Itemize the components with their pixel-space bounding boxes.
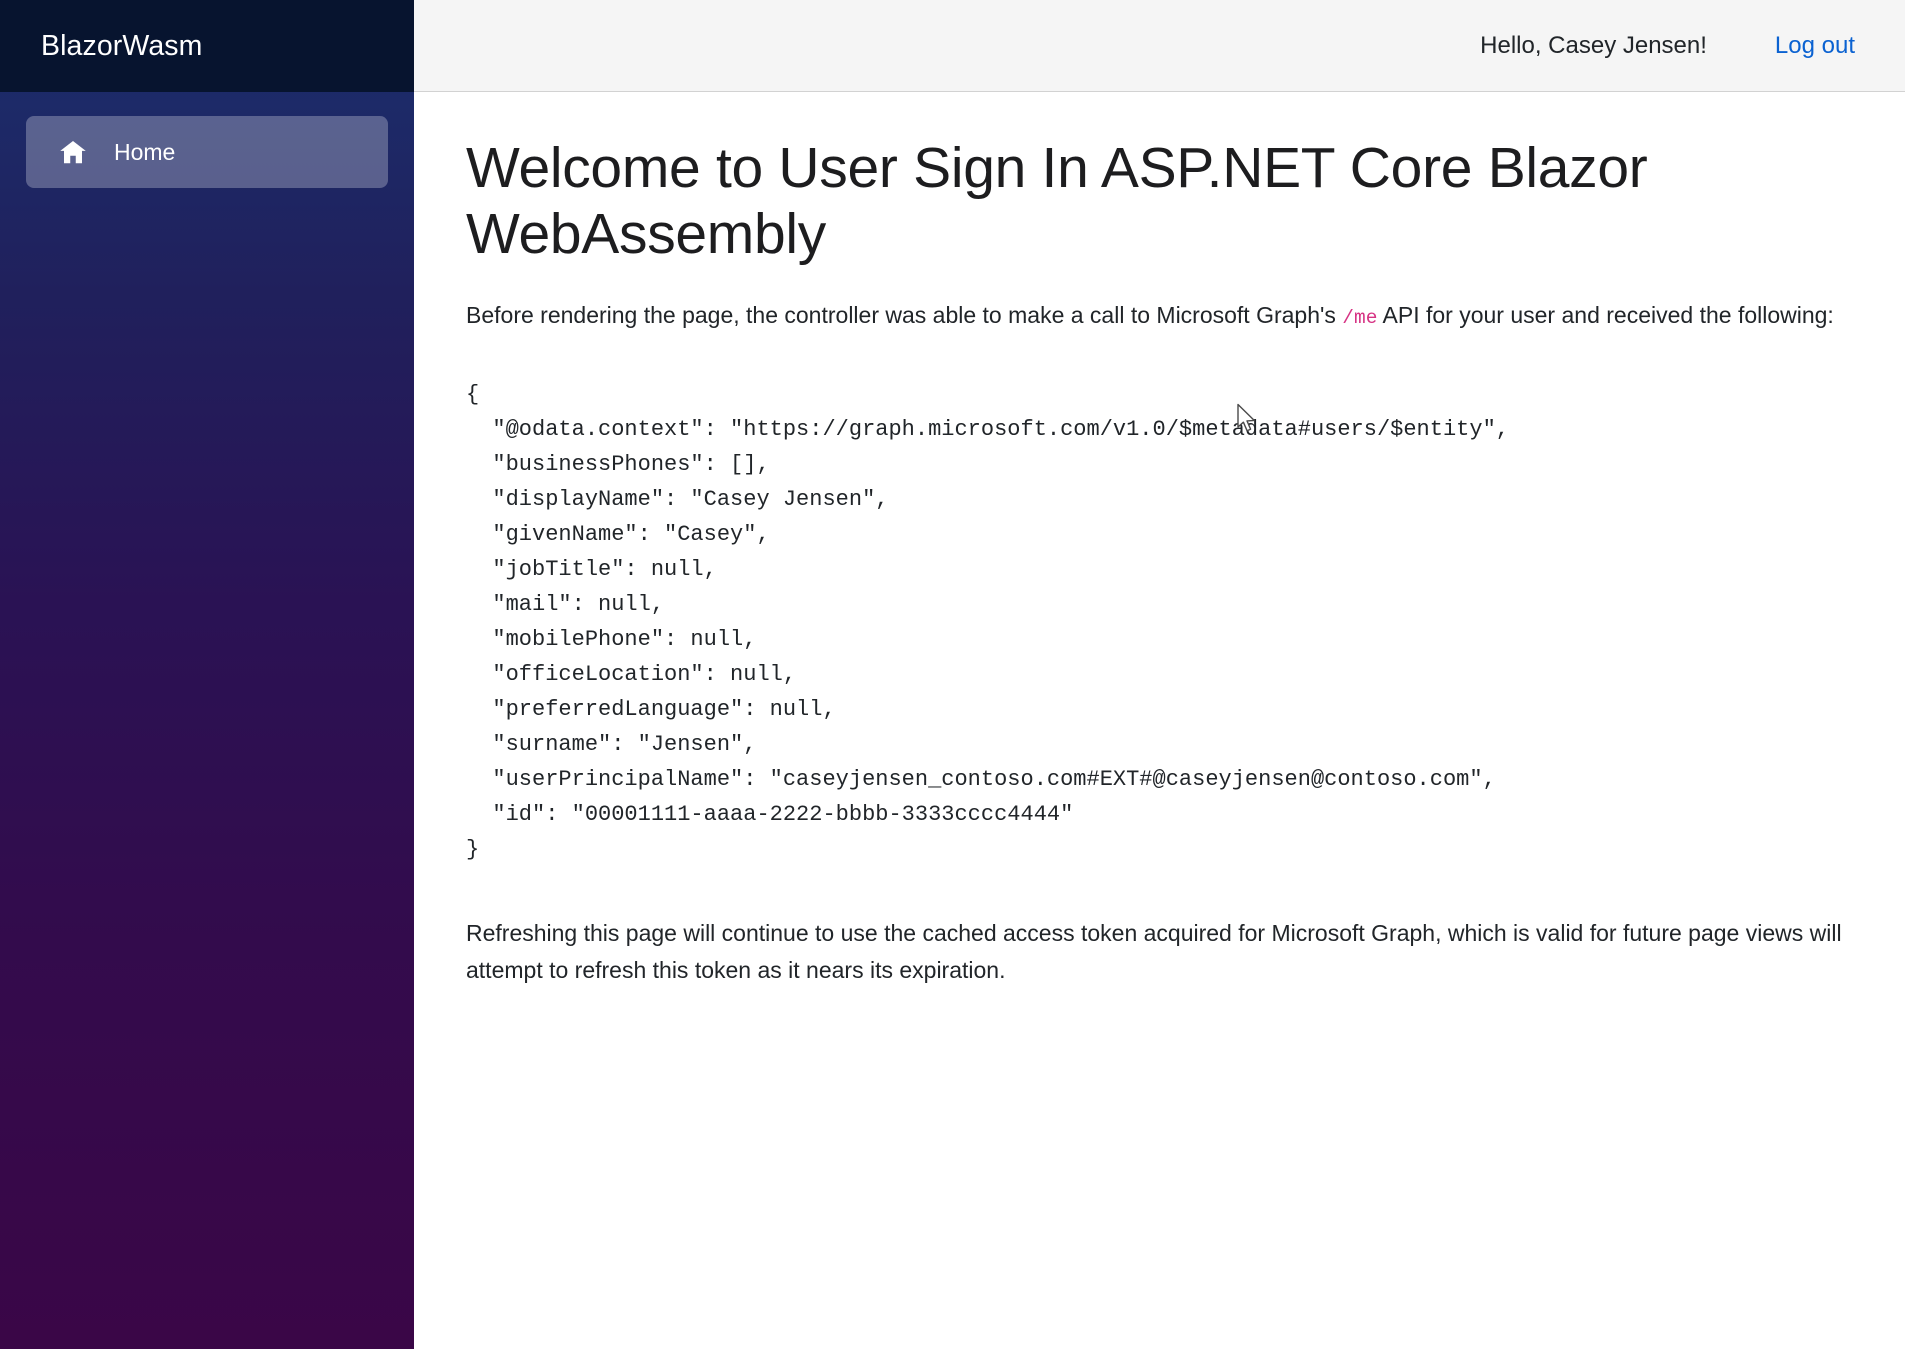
home-icon	[58, 137, 88, 167]
app-root: BlazorWasm Home Hello, Casey Jensen! Log…	[0, 0, 1905, 1349]
page-title: Welcome to User Sign In ASP.NET Core Bla…	[466, 136, 1853, 267]
log-out-link[interactable]: Log out	[1775, 34, 1855, 58]
sidebar-item-home[interactable]: Home	[26, 116, 388, 188]
page-content: Welcome to User Sign In ASP.NET Core Bla…	[414, 92, 1905, 1349]
token-refresh-note: Refreshing this page will continue to us…	[466, 915, 1853, 990]
user-greeting: Hello, Casey Jensen!	[1480, 34, 1707, 58]
brand-title[interactable]: BlazorWasm	[41, 32, 202, 61]
intro-text-after-code: API for your user and received the follo…	[1377, 302, 1833, 328]
sidebar-item-label-home: Home	[114, 141, 175, 164]
me-endpoint-code: /me	[1342, 307, 1377, 329]
sidebar: BlazorWasm Home	[0, 0, 414, 1349]
intro-text-before-code: Before rendering the page, the controlle…	[466, 302, 1342, 328]
graph-response-json: { "@odata.context": "https://graph.micro…	[466, 377, 1853, 867]
sidebar-nav-list: Home	[0, 92, 414, 1349]
brand-bar: BlazorWasm	[0, 0, 414, 92]
intro-paragraph: Before rendering the page, the controlle…	[466, 297, 1853, 335]
top-bar: Hello, Casey Jensen! Log out	[414, 0, 1905, 92]
main-column: Hello, Casey Jensen! Log out Welcome to …	[414, 0, 1905, 1349]
